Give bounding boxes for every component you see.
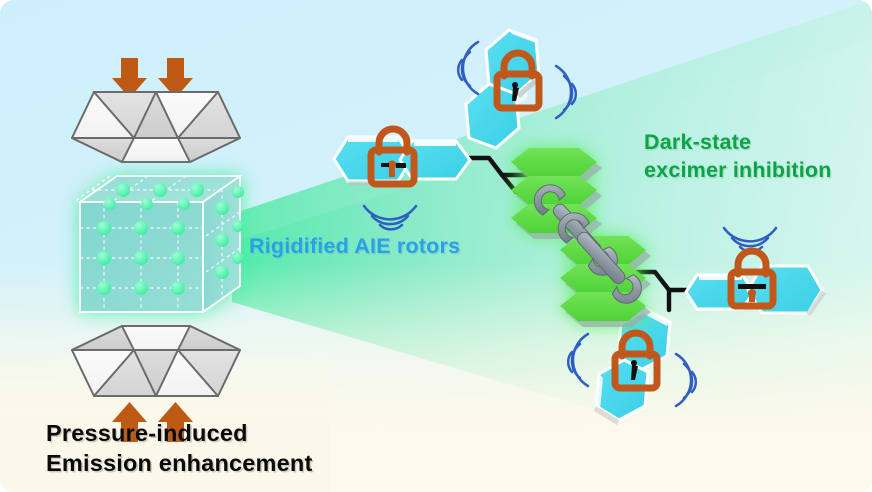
rotor-left: [334, 137, 470, 186]
wave-upper-right: [556, 66, 576, 118]
wave-lower-left: [568, 334, 588, 386]
rotor-highlight: [348, 137, 398, 142]
excimer-hexagon: [511, 148, 597, 177]
wave-mid-left: [364, 206, 416, 229]
wave-upper-left: [458, 42, 478, 94]
rotor-hexagon: [466, 84, 519, 148]
label-rigidified-aie-rotors: Rigidified AIE rotors: [249, 234, 460, 259]
label-pressure-induced: Pressure-induced Emission enhancement: [46, 418, 313, 478]
figure-canvas: Pressure-induced Emission enhancement Ri…: [0, 0, 872, 492]
wave-lower-right: [676, 354, 696, 406]
rotor-highlight: [414, 141, 456, 146]
label-dark-state-excimer-inhibition: Dark-state excimer inhibition: [644, 128, 832, 184]
rotor-upper: [466, 30, 543, 148]
